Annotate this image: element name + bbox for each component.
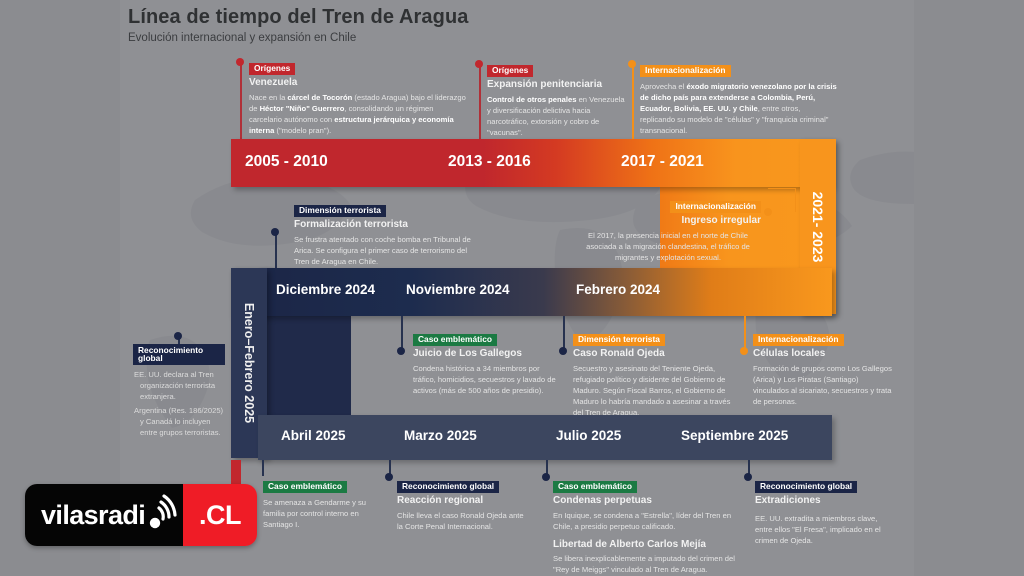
page-title: Línea de tiempo del Tren de Aragua [128,6,469,29]
connector-dot-terror-formalization [271,228,279,236]
annotation-body: Secuestro y asesinato del Teniente Ojeda… [573,363,739,418]
right-letterbox [914,0,1024,576]
connector-dot-global-recognition-left [174,332,182,340]
timeline-period-2005-2010: 2005 - 2010 [245,153,328,171]
annotation-body: EE. UU. extradita a miembros clave, entr… [755,513,895,546]
annotation-regional-reaction: Reconocimiento global Reacción regional … [397,476,527,532]
timeline-vertical-label: Enero–Febrero 2025 [242,303,256,423]
connector-line-gendarme-threat [262,460,264,476]
annotation-body: Se amenaza a Gendarme y su familia por c… [263,497,383,530]
annotation-terror-formalization: Dimensión terrorista Formalización terro… [294,200,472,267]
annotation-body: El 2017, la presencia inicial en el nort… [575,230,761,263]
annotation-subtitle: Células locales [753,348,895,360]
annotation-body: Nace en la cárcel de Tocorón (estado Ara… [249,92,467,136]
timeline-period-diciembre-2024: Diciembre 2024 [276,282,375,297]
connector-line-origins-venezuela [240,62,242,142]
annotation-body: Formación de grupos como Los Gallegos (A… [753,363,895,407]
timeline-bar-bottom: Abril 2025 Marzo 2025 Julio 2025 Septiem… [258,415,832,460]
annotation-body: En Iquique, se condena a "Estrella", líd… [553,510,749,532]
connector-dot-gallegos-trial [397,347,405,355]
annotation-subtitle: Juicio de Los Gallegos [413,348,563,360]
annotation-bullet-list: EE. UU. declara al Tren organización ter… [133,369,225,438]
annotation-tag: Reconocimiento global [133,344,225,365]
timeline-period-febrero-2024: Febrero 2024 [576,282,660,297]
connector-elbow-irregular-entry [768,188,796,212]
connector-dot-extraditions [744,473,752,481]
annotation-subtitle: Venezuela [249,77,467,89]
annotation-tag: Orígenes [249,63,295,75]
annotation-body: Chile lleva el caso Ronald Ojeda ante la… [397,510,527,532]
connector-line-origins-expansion [479,64,481,142]
timeline-period-julio-2025: Julio 2025 [556,428,621,443]
annotation-tag: Internacionalización [640,65,731,77]
logo-red-panel: .CL [183,484,257,546]
annotation-ronald-ojeda: Dimensión terrorista Caso Ronald Ojeda S… [573,329,739,418]
annotation-internationalization: Internacionalización Aprovecha el éxodo … [640,60,837,136]
logo-wordmark: vilasradi [41,500,145,531]
annotation-body: Se frustra atentado con coche bomba en T… [294,234,472,267]
annotation-gendarme-threat: Caso emblemático Se amenaza a Gendarme y… [263,476,383,530]
annotation-body: Condena histórica a 34 miembros por tráf… [413,363,563,396]
connector-dot-ronald-ojeda [559,347,567,355]
annotation-tag: Reconocimiento global [397,481,499,493]
annotation-tag: Caso emblemático [263,481,347,493]
timeline-vertical-label: 2021- 2023 [810,191,826,262]
timeline-period-abril-2025: Abril 2025 [281,428,346,443]
annotation-subtitle: Formalización terrorista [294,219,472,231]
connector-dot-origins-venezuela [236,58,244,66]
annotation-origins-expansion: Orígenes Expansión penitenciaria Control… [487,60,627,138]
annotation-tag: Internacionalización [753,334,844,346]
header: Línea de tiempo del Tren de Aragua Evolu… [128,6,469,44]
annotation-tag: Dimensión terrorista [294,205,386,217]
connector-dot-regional-reaction [385,473,393,481]
annotation-body-2: Se libera inexplicablemente a imputado d… [553,553,749,575]
annotation-subtitle: Extradiciones [755,495,895,507]
connector-dot-origins-expansion [475,60,483,68]
timeline-period-noviembre-2024: Noviembre 2024 [406,282,510,297]
annotation-subtitle: Ingreso irregular [575,215,761,227]
page-subtitle: Evolución internacional y expansión en C… [128,32,469,44]
annotation-subtitle: Caso Ronald Ojeda [573,348,739,360]
timeline-period-septiembre-2025: Septiembre 2025 [681,428,788,443]
annotation-tag: Internacionalización [670,201,761,213]
annotation-gallegos-trial: Caso emblemático Juicio de Los Gallegos … [413,329,563,396]
annotation-global-recognition-left: Reconocimiento global EE. UU. declara al… [133,344,225,438]
connector-dot-irregular-entry [764,208,772,216]
annotation-subtitle-2: Libertad de Alberto Carlos Mejía [553,539,749,551]
annotation-tag: Caso emblemático [553,481,637,493]
infographic-canvas: Línea de tiempo del Tren de Aragua Evolu… [0,0,1024,576]
annotation-subtitle: Reacción regional [397,495,527,507]
annotation-body: Aprovecha el éxodo migratorio venezolano… [640,81,837,136]
wifi-broadcast-icon [139,492,183,536]
connector-dot-life-sentences [542,473,550,481]
annotation-tag: Dimensión terrorista [573,334,665,346]
annotation-local-cells: Internacionalización Células locales For… [753,329,895,407]
connector-line-gallegos-trial [401,316,403,351]
connector-dot-internationalization [628,60,636,68]
annotation-tag: Reconocimiento global [755,481,857,493]
logo-black-panel: vilasradi [25,484,183,546]
list-item: Argentina (Res. 186/2025) y Canadá lo in… [133,405,225,438]
annotation-life-sentences: Caso emblemático Condenas perpetuas En I… [553,476,749,575]
list-item: EE. UU. declara al Tren organización ter… [133,369,225,402]
connector-line-internationalization [632,64,634,142]
logo-tld: .CL [199,500,241,531]
connector-line-ronald-ojeda [563,316,565,351]
annotation-tag: Caso emblemático [413,334,497,346]
annotation-subtitle: Condenas perpetuas [553,495,749,507]
annotation-extraditions: Reconocimiento global Extradiciones EE. … [755,476,895,546]
annotation-body: Control de otros penales en Venezuela y … [487,94,627,138]
vilasradio-logo: vilasradi .CL [25,484,257,546]
annotation-tag: Orígenes [487,65,533,77]
connector-line-local-cells [744,316,746,351]
connector-dot-local-cells [740,347,748,355]
annotation-irregular-entry: Internacionalización Ingreso irregular E… [575,196,761,263]
timeline-period-marzo-2025: Marzo 2025 [404,428,477,443]
timeline-bar-top: 2005 - 2010 2013 - 2016 2017 - 2021 [231,139,832,187]
annotation-origins-venezuela: Orígenes Venezuela Nace en la cárcel de … [249,58,467,136]
timeline-period-2017-2021: 2017 - 2021 [621,153,704,171]
timeline-bar-middle: Diciembre 2024 Noviembre 2024 Febrero 20… [231,268,832,316]
timeline-period-2013-2016: 2013 - 2016 [448,153,531,171]
annotation-subtitle: Expansión penitenciaria [487,79,627,91]
